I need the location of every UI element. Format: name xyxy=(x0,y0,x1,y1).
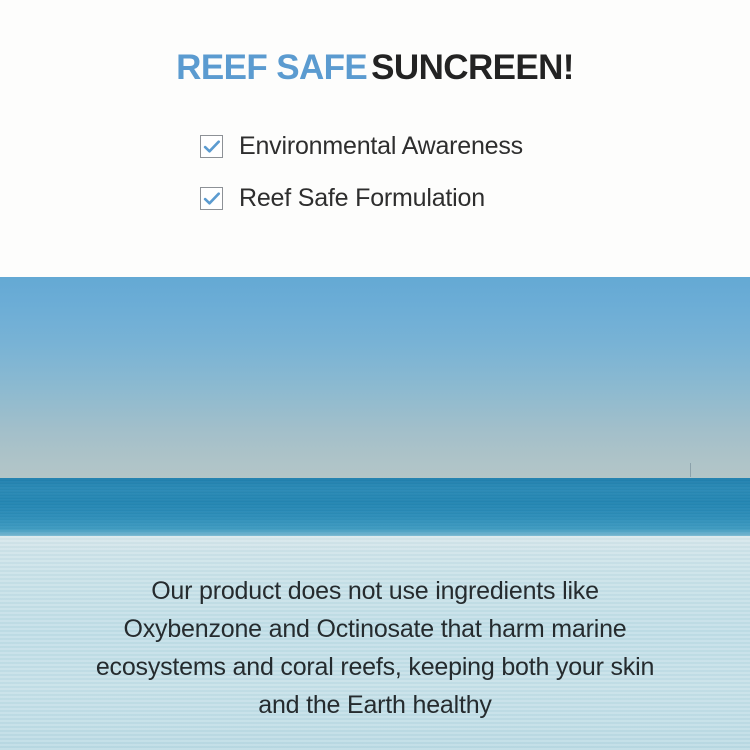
reef-safe-promo-card: REEF SAFESUNCREEN! Environmental Awarene… xyxy=(0,0,750,750)
distant-vessel-icon xyxy=(690,463,691,477)
feature-checklist: Environmental Awareness Reef Safe Formul… xyxy=(0,134,750,238)
ocean-photo: Our product does not use ingredients lik… xyxy=(0,277,750,750)
caption-line: ecosystems and coral reefs, keeping both… xyxy=(0,648,750,686)
feature-item-label: Environmental Awareness xyxy=(239,134,523,159)
page-title-main: SUNCREEN! xyxy=(371,48,574,87)
page-title-accent: REEF SAFE xyxy=(176,48,367,87)
page-title: REEF SAFESUNCREEN! xyxy=(0,49,750,88)
checkbox-checked-icon[interactable] xyxy=(200,187,223,210)
deep-ocean-region xyxy=(0,478,750,536)
caption-line: Our product does not use ingredients lik… xyxy=(0,572,750,610)
caption-line: and the Earth healthy xyxy=(0,686,750,724)
header-panel: REEF SAFESUNCREEN! Environmental Awarene… xyxy=(0,0,750,277)
feature-item-label: Reef Safe Formulation xyxy=(239,186,485,211)
checkbox-checked-icon[interactable] xyxy=(200,135,223,158)
feature-item-environmental-awareness[interactable]: Environmental Awareness xyxy=(200,134,550,159)
caption-text: Our product does not use ingredients lik… xyxy=(0,572,750,724)
caption-line: Oxybenzone and Octinosate that harm mari… xyxy=(0,610,750,648)
sky-region xyxy=(0,277,750,478)
feature-item-reef-safe-formulation[interactable]: Reef Safe Formulation xyxy=(200,186,550,211)
